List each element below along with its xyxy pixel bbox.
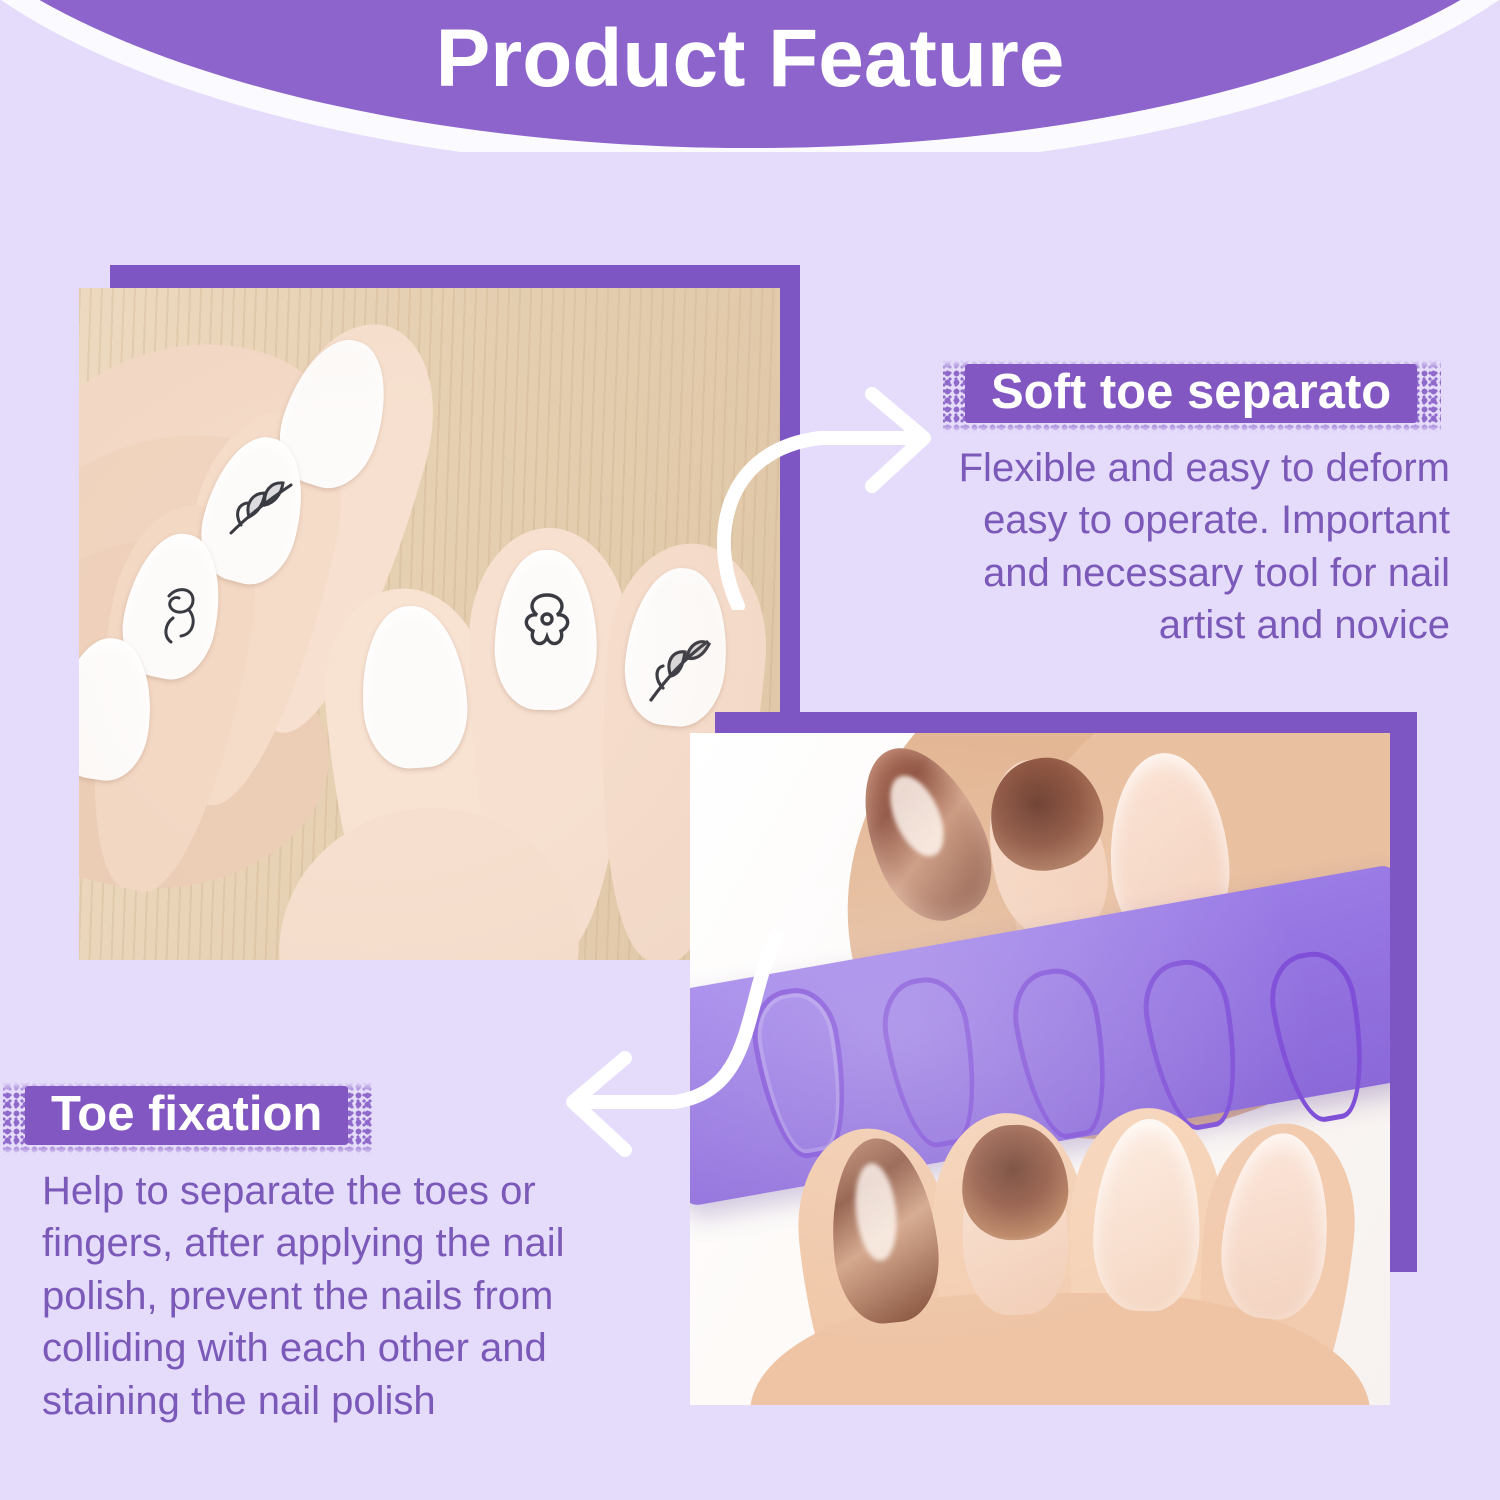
brush-stroke-texture xyxy=(3,1082,372,1155)
page-header: Product Feature xyxy=(0,0,1500,152)
page-title: Product Feature xyxy=(0,18,1500,100)
feature-heading-toe-fixation: Toe fixation xyxy=(25,1082,348,1151)
photo-toe-separator xyxy=(690,733,1390,1405)
feature-body-toe-fixation: Help to separate the toes or fingers, af… xyxy=(42,1165,587,1427)
feature-heading-soft-toe-separator: Soft toe separato xyxy=(965,360,1417,429)
photo-white-nails xyxy=(79,288,780,960)
feature-body-soft-toe-separator: Flexible and easy to deform easy to oper… xyxy=(930,442,1450,652)
brush-stroke-texture xyxy=(943,360,1441,433)
